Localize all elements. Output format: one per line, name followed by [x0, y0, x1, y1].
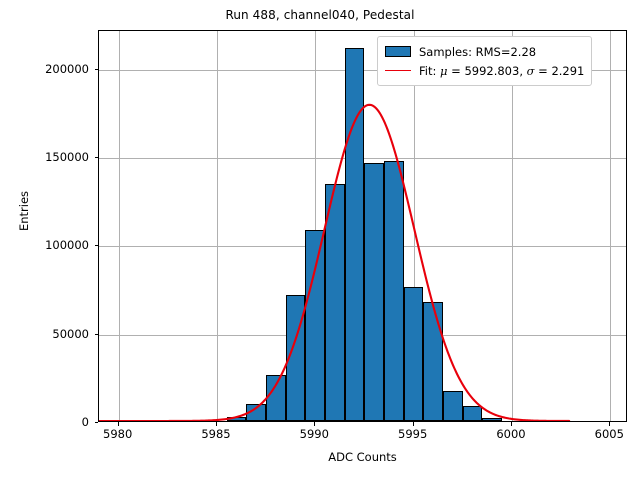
legend-item-samples: Samples: RMS=2.28: [385, 42, 584, 61]
y-axis-label: Entries: [17, 111, 31, 311]
x-tick-label: 5985: [201, 427, 230, 441]
x-tick-label: 6005: [595, 427, 624, 441]
x-tick-mark: [511, 422, 512, 426]
chart-title: Run 488, channel040, Pedestal: [0, 8, 640, 22]
x-tick-label: 5995: [398, 427, 427, 441]
x-tick-label: 5990: [300, 427, 329, 441]
x-tick-mark: [413, 422, 414, 426]
y-tick-label: 200000: [45, 62, 89, 76]
legend-label-samples: Samples: RMS=2.28: [419, 45, 536, 59]
y-tick-mark: [95, 69, 99, 70]
x-tick-mark: [314, 422, 315, 426]
y-tick-mark: [95, 334, 99, 335]
y-tick-label: 150000: [45, 150, 89, 164]
y-tick-mark: [95, 157, 99, 158]
y-tick-mark: [95, 245, 99, 246]
matplotlib-figure: Run 488, channel040, Pedestal 5980598559…: [0, 0, 640, 480]
x-tick-mark: [118, 422, 119, 426]
legend-patch-icon: [385, 46, 411, 57]
chart-legend: Samples: RMS=2.28 Fit: μ = 5992.803, σ =…: [377, 36, 592, 86]
y-tick-label: 100000: [45, 238, 89, 252]
y-tick-label: 0: [82, 415, 89, 429]
legend-label-fit: Fit: μ = 5992.803, σ = 2.291: [419, 64, 584, 78]
x-tick-label: 5980: [103, 427, 132, 441]
x-tick-mark: [609, 422, 610, 426]
plot-area: [98, 30, 627, 422]
x-tick-label: 6000: [496, 427, 525, 441]
x-tick-mark: [216, 422, 217, 426]
x-axis-label: ADC Counts: [98, 450, 627, 464]
legend-item-fit: Fit: μ = 5992.803, σ = 2.291: [385, 61, 584, 80]
y-tick-mark: [95, 422, 99, 423]
y-tick-label: 50000: [52, 327, 89, 341]
legend-line-icon: [385, 70, 411, 71]
gaussian-fit-curve: [99, 31, 626, 421]
